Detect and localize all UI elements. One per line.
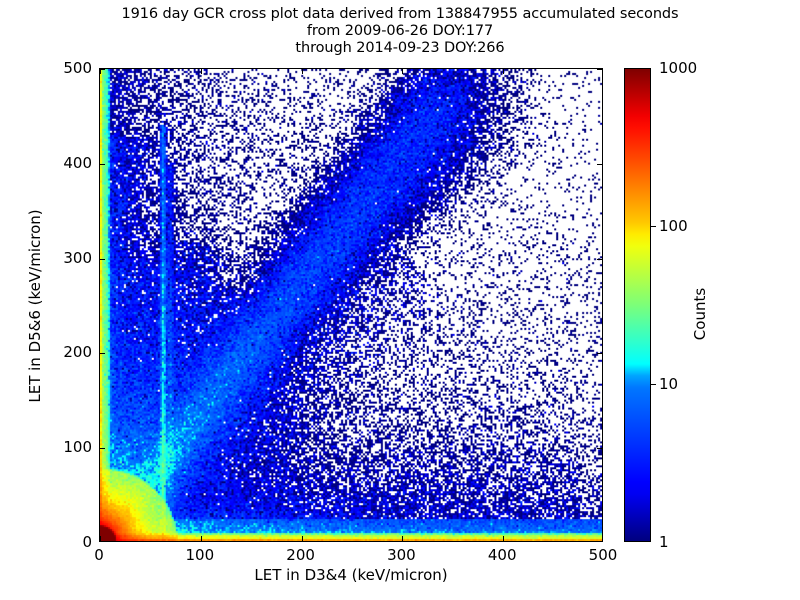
x-tick-top [402,69,403,74]
x-tick-label: 400 [488,546,517,564]
y-tick-right [597,164,602,165]
x-tick-label: 100 [185,546,214,564]
colorbar-tick [651,226,656,227]
colorbar-gradient [625,69,650,541]
density-heatmap [100,69,602,541]
x-tick [302,536,303,541]
plot-title: 1916 day GCR cross plot data derived fro… [0,6,800,57]
colorbar-tick-label: 1 [659,533,669,551]
x-tick [100,536,101,541]
x-tick-top [201,69,202,74]
y-tick-right [597,69,602,70]
colorbar [624,68,651,542]
figure-canvas: 1916 day GCR cross plot data derived fro… [0,0,800,600]
y-tick [100,448,105,449]
y-tick [100,69,105,70]
y-tick [100,259,105,260]
x-tick-label: 0 [94,546,104,564]
colorbar-tick-label: 10 [659,375,678,393]
colorbar-tick-label: 100 [659,217,688,235]
x-tick-top [302,69,303,74]
title-line-1: 1916 day GCR cross plot data derived fro… [0,6,800,23]
y-tick-right [597,259,602,260]
y-tick-label: 0 [32,533,92,551]
x-tick-label: 500 [589,546,618,564]
x-tick [201,536,202,541]
y-tick-label: 500 [32,59,92,77]
x-tick [503,536,504,541]
colorbar-label: Counts [691,214,709,414]
y-tick [100,353,105,354]
y-tick-right [597,353,602,354]
y-tick [100,164,105,165]
colorbar-tick-label: 1000 [659,59,697,77]
x-tick-label: 300 [387,546,416,564]
y-tick-right [597,448,602,449]
title-line-3: through 2014-09-23 DOY:266 [0,40,800,57]
x-tick-label: 200 [286,546,315,564]
colorbar-tick [651,384,656,385]
x-tick-top [503,69,504,74]
x-axis-label: LET in D3&4 (keV/micron) [99,566,603,584]
x-tick [402,536,403,541]
plot-axes [99,68,603,542]
title-line-2: from 2009-06-26 DOY:177 [0,23,800,40]
y-axis-label: LET in D5&6 (keV/micron) [26,136,44,476]
